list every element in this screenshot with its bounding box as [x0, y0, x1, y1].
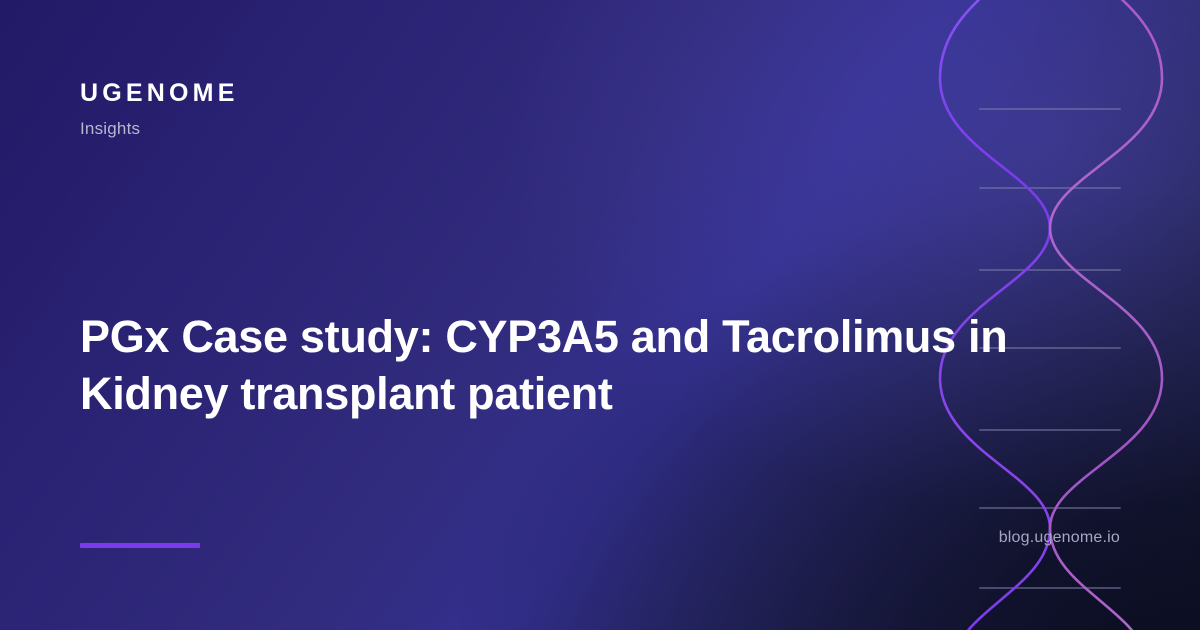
brand-name: UGENOME: [80, 80, 239, 108]
social-share-card: UGENOME Insights PGx Case study: CYP3A5 …: [0, 0, 1200, 630]
page-title: PGx Case study: CYP3A5 and Tacrolimus in…: [80, 309, 1090, 422]
accent-bar: [80, 543, 200, 548]
brand-subtitle: Insights: [80, 119, 239, 139]
site-url: blog.ugenome.io: [999, 529, 1120, 547]
brand-block: UGENOME Insights: [80, 80, 239, 139]
